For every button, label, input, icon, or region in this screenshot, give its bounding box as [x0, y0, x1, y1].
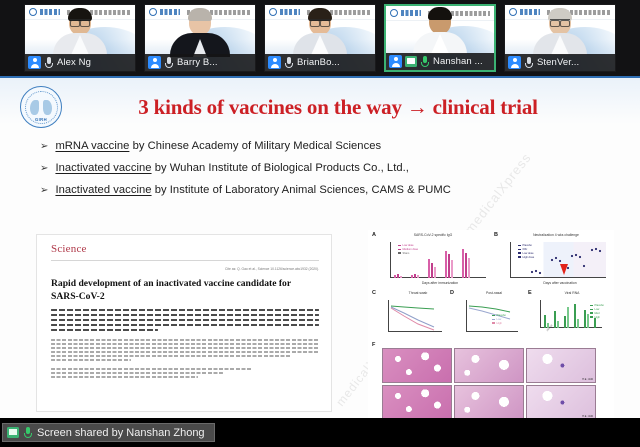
panel-label-a: A [372, 232, 376, 238]
tile-namebar: Alex Ng [25, 54, 135, 71]
panel-label-d: D [450, 290, 454, 296]
participant-figure [533, 10, 587, 55]
panel-label-e: E [528, 290, 532, 296]
zoom-meeting-window: Alex Ng Barry B.. [0, 0, 640, 447]
video-tile-barry-b[interactable]: Barry B... [144, 4, 256, 72]
panel-e-title: Viral RNA [554, 291, 590, 295]
bullet-arrow-icon: ➢ [40, 141, 48, 152]
microphone-icon [23, 426, 33, 439]
banner-logo-icon [509, 8, 517, 16]
histology-image: H&E stained pneumonia [454, 348, 524, 383]
video-tile-nanshan[interactable]: Nanshan ... [384, 4, 496, 72]
list-item: ➢ Inactivated vaccine by Wuhan Institute… [40, 162, 640, 174]
tile-namebar: Barry B... [145, 54, 255, 71]
participant-filmstrip: Alex Ng Barry B.. [0, 0, 640, 76]
bullet-text: mRNA vaccine by Chinese Academy of Milit… [55, 140, 381, 152]
science-paper-screenshot: Science Cite as: Q. Gao et al., Science … [36, 234, 332, 412]
participant-name: Barry B... [177, 57, 218, 68]
histology-image: Vaccine [382, 385, 452, 418]
logo-text: GIRH [21, 117, 61, 122]
participant-name: Alex Ng [57, 57, 91, 68]
panel-a-title: SARS-CoV-2 specific IgG [398, 233, 468, 237]
panel-d-legend: PlaceboLowHigh [492, 314, 506, 326]
video-tile-brianbo[interactable]: BrianBo... [264, 4, 376, 72]
paper-citation: Cite as: Q. Gao et al., Science 10.1126/… [51, 267, 319, 272]
panel-label-f: F [372, 342, 375, 348]
bullet-text: Inactivated vaccine by Wuhan Institute o… [55, 162, 409, 174]
person-avatar-icon [508, 56, 521, 69]
bullet-text: Inactivated vaccine by Institute of Labo… [55, 184, 451, 196]
participant-figure [413, 9, 467, 54]
paper-author-block [51, 309, 319, 378]
participant-figure [293, 10, 347, 55]
histology-image: Sham H.E. ×100 week 4 [526, 348, 596, 383]
histology-image [454, 385, 524, 418]
bullet-rest: by Chinese Academy of Military Medical S… [129, 140, 381, 152]
panel-d-title: Post-nasal [472, 291, 516, 295]
banner-logo-icon [390, 9, 398, 17]
tile-namebar: Nanshan ... [386, 53, 494, 70]
panel-f-histology-grid: Gross morphological anatomy Placebo H&E … [382, 348, 596, 418]
panel-label-c: C [372, 290, 376, 296]
participant-name: StenVer... [537, 57, 579, 68]
histology-scale-bar: H.E. ×100 [582, 378, 593, 381]
bullet-emphasis: Inactivated vaccine [55, 162, 151, 174]
participant-name: Nanshan ... [433, 56, 483, 67]
banner-logo-icon [29, 8, 37, 16]
bullet-rest: by Institute of Laboratory Animal Scienc… [152, 184, 451, 196]
histology-image: H.E. ×100 week 8 [526, 385, 596, 418]
panel-b-title: Neutralization 4 wks challenge [514, 233, 598, 237]
panel-e-legend: PlaceboLowMedHigh [590, 304, 604, 320]
slide-figures-row: Science Cite as: Q. Gao et al., Science … [0, 230, 640, 418]
panel-label-b: B [494, 232, 498, 238]
girh-lungs-logo-icon: GIRH [20, 86, 62, 128]
list-item: ➢ Inactivated vaccine by Institute of La… [40, 184, 640, 196]
panel-a-xlabel: Days after immunization [408, 281, 472, 285]
participant-name: BrianBo... [297, 57, 340, 68]
slide-header: GIRH 3 kinds of vaccines on the way → cl… [0, 78, 640, 128]
microphone-icon [284, 56, 294, 69]
banner-logo-icon [149, 8, 157, 16]
person-avatar-icon [268, 56, 281, 69]
journal-name: Science [51, 243, 319, 255]
panel-a-legend: Low doseMedium doseSham [398, 244, 418, 256]
microphone-icon [420, 55, 430, 68]
tile-namebar: BrianBo... [265, 54, 375, 71]
microphone-icon [164, 56, 174, 69]
panel-c-title: Throat swab [394, 291, 442, 295]
microphone-icon [44, 56, 54, 69]
screen-share-icon [7, 427, 19, 438]
bottom-status-bar: Screen shared by Nanshan Zhong [0, 418, 640, 447]
histology-image: Gross morphological anatomy Placebo [382, 348, 452, 383]
panel-b-xlabel: Days after vaccination [528, 281, 592, 285]
participant-figure [170, 10, 230, 57]
tile-namebar: StenVer... [505, 54, 615, 71]
panel-b-legend: Placebo60ULow doseHigh dose [518, 244, 534, 260]
vaccine-results-figure: A SARS-CoV-2 specific IgG Low doseMedium… [368, 230, 614, 418]
microphone-icon [524, 56, 534, 69]
screen-share-icon [405, 56, 417, 67]
divider [51, 260, 319, 261]
bullet-list: ➢ mRNA vaccine by Chinese Academy of Mil… [0, 128, 640, 196]
slide-title: 3 kinds of vaccines on the way → clinica… [62, 95, 640, 120]
bullet-arrow-icon: ➢ [40, 163, 48, 174]
share-status-text: Screen shared by Nanshan Zhong [37, 427, 205, 439]
banner-logo-icon [269, 8, 277, 16]
paper-title: Rapid development of an inactivated vacc… [51, 278, 319, 303]
screen-share-status-pill[interactable]: Screen shared by Nanshan Zhong [2, 423, 215, 442]
person-avatar-icon [148, 56, 161, 69]
bullet-emphasis: mRNA vaccine [55, 140, 129, 152]
panel-c-lines [388, 300, 442, 332]
bullet-rest: by Wuhan Institute of Biological Product… [152, 162, 409, 174]
participant-figure [53, 10, 107, 55]
list-item: ➢ mRNA vaccine by Chinese Academy of Mil… [40, 140, 640, 152]
lungs-glyph [30, 97, 52, 115]
person-avatar-icon [28, 56, 41, 69]
person-avatar-icon [389, 55, 402, 68]
bullet-emphasis: Inactivated vaccine [55, 184, 151, 196]
video-tile-stenver[interactable]: StenVer... [504, 4, 616, 72]
video-tile-alex-ng[interactable]: Alex Ng [24, 4, 136, 72]
bullet-arrow-icon: ➢ [40, 185, 48, 196]
shared-slide: medicalXpress medicalXpress GIRH 3 kinds… [0, 76, 640, 418]
